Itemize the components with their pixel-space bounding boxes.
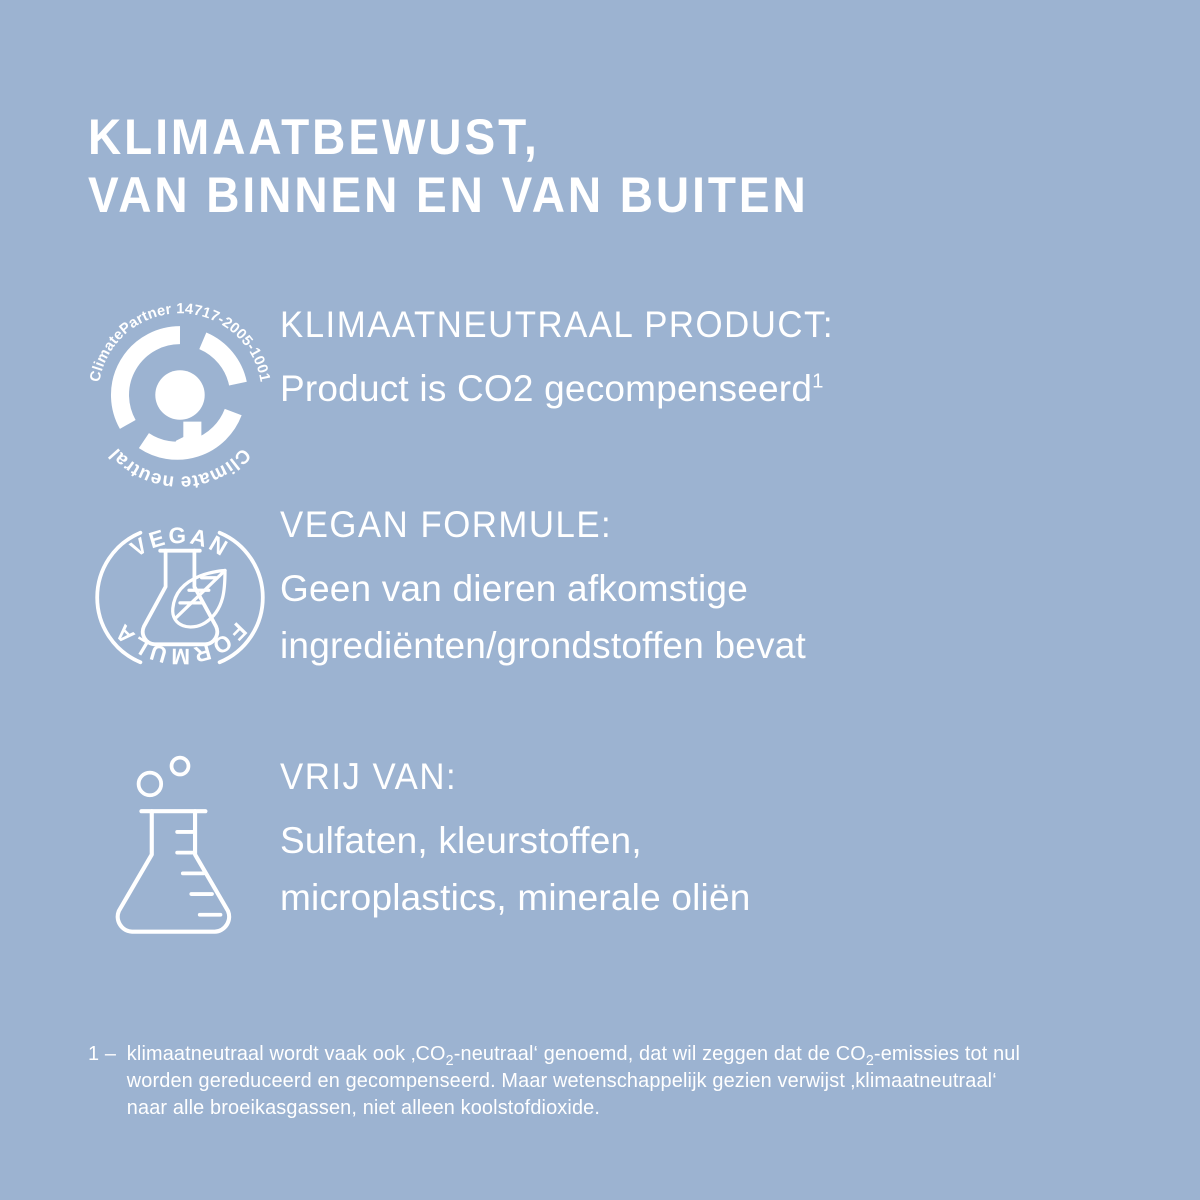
feature-title-free-from: VRIJ VAN: [280,754,1070,800]
climate-partner-climate-neutral-badge: ClimatePartner 14717-2005-1001 Climate n… [85,300,275,490]
footnote-body: klimaatneutraal wordt vaak ook ‚CO2-neut… [127,1040,1116,1121]
vegan-arc-text: VEGAN [126,523,234,562]
feature-row-vegan-formula: VEGAN FORMULA [80,500,1120,686]
bubble-small-right [172,758,189,775]
footnote-line-1-part-a: klimaatneutraal wordt vaak ook ‚CO [127,1042,446,1065]
promo-panel: KLIMAATBEWUST, VAN BINNEN EN VAN BUITEN … [0,0,1200,1200]
feature-body-line: microplastics, minerale oliën [280,869,1120,926]
footnote: 1 – klimaatneutraal wordt vaak ook ‚CO2-… [88,1040,1116,1121]
feature-body-line: ingrediënten/grondstoffen bevat [280,617,1120,674]
feature-body-vegan-formula: Geen van dieren afkomstige ingrediënten/… [280,560,1120,674]
footnote-line-1-part-c: -emissies tot nul [874,1042,1020,1065]
footnote-line-3: naar alle broeikasgassen, niet alleen ko… [127,1094,1116,1121]
footnote-line-2: worden gereduceerd en gecompenseerd. Maa… [127,1067,1116,1094]
vegan-formula-badge-wrapper: VEGAN FORMULA [80,500,280,686]
flask-icon-wrapper [80,752,280,942]
erlenmeyer-flask-icon [100,752,260,942]
feature-text-climate-neutral: KLIMAATNEUTRAAL PRODUCT: Product is CO2 … [280,300,1120,417]
feature-row-free-from: VRIJ VAN: Sulfaten, kleurstoffen, microp… [80,752,1120,942]
feature-text-vegan-formula: VEGAN FORMULE: Geen van dieren afkomstig… [280,500,1120,674]
svg-text:VEGAN: VEGAN [126,523,234,562]
page-title-line-1: KLIMAATBEWUST, [88,108,1026,166]
feature-row-climate-neutral: ClimatePartner 14717-2005-1001 Climate n… [80,300,1120,490]
footnote-marker: 1 – [88,1040,127,1121]
footnote-reference: 1 [812,371,824,393]
climate-partner-badge-wrapper: ClimatePartner 14717-2005-1001 Climate n… [80,300,280,490]
footnote-line-1-part-b: -neutraal‘ genoemd, dat wil zeggen dat d… [454,1042,866,1065]
page-title: KLIMAATBEWUST, VAN BINNEN EN VAN BUITEN [88,108,1026,224]
feature-body-free-from: Sulfaten, kleurstoffen, microplastics, m… [280,812,1120,926]
feature-body-line: Geen van dieren afkomstige [280,560,1120,617]
feature-body-line: Product is CO2 gecompenseerd [280,368,812,409]
vegan-formula-badge: VEGAN FORMULA [90,500,270,686]
feature-body-line: Sulfaten, kleurstoffen, [280,812,1120,869]
page-title-line-2: VAN BINNEN EN VAN BUITEN [88,166,1026,224]
feature-title-climate-neutral: KLIMAATNEUTRAAL PRODUCT: [280,302,1070,348]
feature-title-vegan-formula: VEGAN FORMULE: [280,502,1070,548]
bubble-small-left [139,773,162,796]
feature-text-free-from: VRIJ VAN: Sulfaten, kleurstoffen, microp… [280,752,1120,926]
footnote-line-1: klimaatneutraal wordt vaak ook ‚CO2-neut… [127,1040,1116,1067]
feature-body-climate-neutral: Product is CO2 gecompenseerd1 [280,360,1120,417]
